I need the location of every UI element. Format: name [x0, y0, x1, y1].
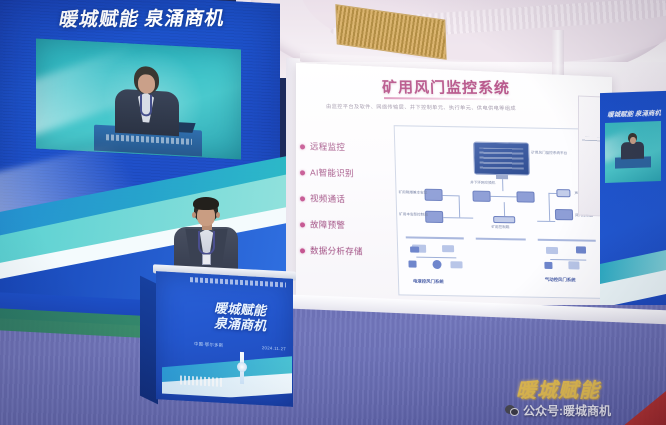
- diagram-section-label-right: 气动控风门系统: [545, 277, 576, 284]
- diagram-link: [504, 202, 505, 216]
- diagram-device-icon: [568, 261, 579, 269]
- diagram-node-box: [516, 191, 534, 202]
- bullet-item-video-call: 视频通话: [300, 192, 392, 206]
- bullet-dot-icon: [300, 196, 305, 201]
- podium-tower-icon: [240, 348, 244, 385]
- bullet-label: AI智能识别: [310, 166, 354, 179]
- slide-subtitle: 由监控平台及软件、网络传输层、井下控制单元、执行单元、供电供电等组成: [326, 103, 601, 113]
- diagram-device-icon: [546, 247, 558, 254]
- diagram-section-rule: [538, 239, 596, 242]
- diagram-device-icon: [432, 260, 441, 269]
- diagram-node-label-c: 矿用本安型控制器: [399, 212, 428, 218]
- speaker-hair: [193, 197, 219, 210]
- diagram-monitor-icon: [473, 142, 530, 176]
- diagram-device-icon: [544, 262, 552, 269]
- diagram-link: [416, 257, 456, 259]
- bullet-dot-icon: [300, 222, 305, 227]
- signage-text-lines: [582, 137, 602, 142]
- diagram-link: [459, 195, 461, 217]
- system-architecture-diagram: 矿用风门监控系统平台 井下环网交换机 矿用隔爆兼本安型 矿用本安型控制器 矿用控…: [394, 125, 605, 299]
- diagram-device-icon: [576, 246, 586, 253]
- speaker-ear-left: [192, 212, 196, 218]
- diagram-link: [537, 221, 555, 222]
- diagram-node-label-b: 矿用隔爆兼本安型: [398, 190, 427, 196]
- right-led-panel: 暖城赋能 泉涌商机: [600, 91, 666, 308]
- speaker-lanyard: [198, 231, 215, 255]
- diagram-link: [443, 195, 459, 196]
- video-speaker-lanyard: [140, 94, 152, 117]
- podium-meta-location: 中国·鄂尔多斯: [194, 341, 223, 349]
- diagram-device-icon: [408, 260, 416, 267]
- bullet-item-fault-alert: 故障预警: [300, 218, 392, 232]
- slide-title: 矿用风门监控系统: [382, 76, 511, 98]
- bullet-label: 数据分析存储: [310, 244, 363, 257]
- diagram-link: [548, 193, 550, 221]
- bullet-label: 故障预警: [310, 218, 346, 231]
- diagram-device-icon: [442, 245, 454, 252]
- speaker-ear-right: [216, 212, 220, 218]
- bullet-item-data-analysis: 数据分析存储: [300, 244, 392, 258]
- right-panel-header: 暖城赋能 泉涌商机: [606, 107, 662, 119]
- diagram-link: [548, 193, 556, 194]
- diagram-node-box: [555, 209, 573, 220]
- diagram-switch-label: 矿用控制箱: [491, 225, 509, 230]
- podium-header-text: [190, 277, 286, 287]
- bullet-item-ai-recognition: AI智能识别: [300, 166, 392, 180]
- diagram-node-label-a: 井下环网交换机: [470, 181, 495, 186]
- podium: 暖城赋能 泉涌商机 中国·鄂尔多斯 2024.11.27: [153, 268, 296, 408]
- bullet-dot-icon: [300, 170, 305, 175]
- bullet-label: 视频通话: [310, 192, 346, 205]
- diagram-link: [491, 196, 517, 197]
- diagram-section-rule: [406, 236, 464, 239]
- right-video-speaker-body: [621, 142, 644, 160]
- bullet-dot-icon: [300, 248, 305, 253]
- diagram-section-rule: [476, 238, 526, 240]
- diagram-node-box: [472, 191, 490, 202]
- speaker-badge: [202, 254, 211, 265]
- podium-calligraphy: 暖城赋能 泉涌商机: [194, 299, 286, 334]
- presentation-slide: 矿用风门监控系统 由监控平台及软件、网络传输层、井下控制单元、执行单元、供电供电…: [296, 63, 612, 312]
- podium-meta-date: 2024.11.27: [262, 345, 286, 352]
- right-panel-video: [605, 121, 661, 183]
- diagram-node-box: [556, 189, 570, 197]
- title-underline: [384, 97, 514, 100]
- diagram-switch-box: [493, 216, 515, 223]
- bullet-label: 远程监控: [310, 140, 346, 153]
- right-video-speaker-face: [630, 137, 636, 144]
- diagram-link: [502, 179, 503, 191]
- conference-stage-photo: 暖城赋能 泉涌商机 矿用风门监控系统 由监控平台及软件、网络传输层、井下控制单元…: [0, 0, 666, 425]
- podium-city-graphic: [162, 348, 292, 401]
- diagram-device-icon: [450, 261, 462, 268]
- slide-bullet-list: 远程监控 AI智能识别 视频通话 故障预警 数据分析存储: [300, 139, 392, 273]
- bullet-dot-icon: [300, 144, 305, 149]
- video-speaker-face: [138, 74, 155, 94]
- diagram-device-icon: [410, 247, 419, 253]
- diagram-section-label-left: 电液控风门系统: [413, 279, 444, 286]
- podium-front-face: 暖城赋能 泉涌商机 中国·鄂尔多斯 2024.11.27: [156, 271, 293, 407]
- diagram-monitor-label: 矿用风门监控系统平台: [531, 151, 567, 157]
- bullet-item-remote-monitoring: 远程监控: [300, 140, 392, 154]
